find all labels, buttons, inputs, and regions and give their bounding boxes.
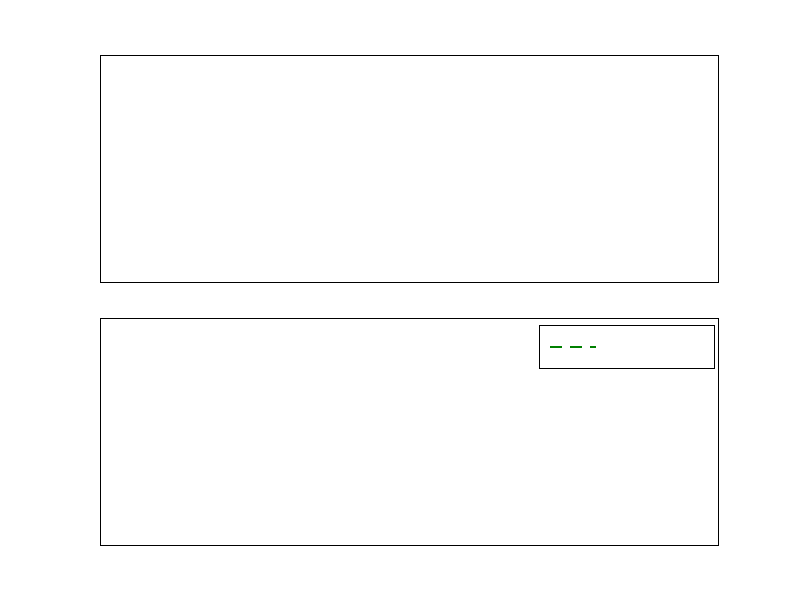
legend-entry-mag-limit (540, 326, 714, 368)
dashed-line-icon (550, 346, 596, 348)
differential-histogram-axes (100, 55, 719, 283)
legend[interactable] (539, 325, 715, 369)
differential-histogram-plot (101, 56, 718, 282)
figure-canvas (0, 0, 800, 600)
